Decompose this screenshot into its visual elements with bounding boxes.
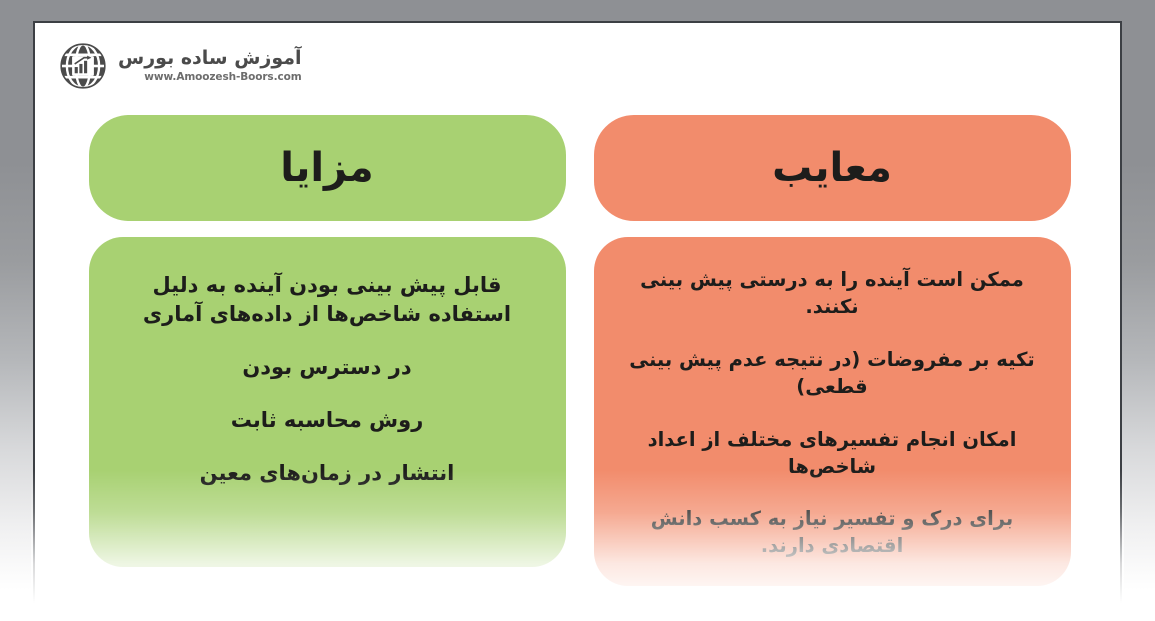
- advantages-body: قابل پیش بینی بودن آینده به دلیل استفاده…: [89, 237, 566, 567]
- list-item: امکان انجام تفسیرهای مختلف از اعداد شاخص…: [620, 427, 1045, 481]
- list-item: تکیه بر مفروضات (در نتیجه عدم پیش بینی ق…: [620, 347, 1045, 401]
- slide-page: آموزش ساده بورس www.Amoozesh-Boors.com م…: [33, 21, 1122, 621]
- advantages-column: مزایا قابل پیش بینی بودن آینده به دلیل ا…: [89, 115, 566, 567]
- disadvantages-header: معایب: [594, 115, 1071, 221]
- brand-text-block: آموزش ساده بورس www.Amoozesh-Boors.com: [118, 49, 302, 83]
- brand-logo: آموزش ساده بورس www.Amoozesh-Boors.com: [57, 40, 302, 92]
- list-item: روش محاسبه ثابت: [115, 406, 540, 435]
- advantages-header: مزایا: [89, 115, 566, 221]
- disadvantages-body: ممکن است آینده را به درستی پیش بینی نکنن…: [594, 237, 1071, 586]
- list-item: ممکن است آینده را به درستی پیش بینی نکنن…: [620, 267, 1045, 321]
- list-item: قابل پیش بینی بودن آینده به دلیل استفاده…: [115, 271, 540, 329]
- brand-url: www.Amoozesh-Boors.com: [144, 72, 301, 83]
- list-item: انتشار در زمان‌های معین: [115, 459, 540, 488]
- comparison-columns: مزایا قابل پیش بینی بودن آینده به دلیل ا…: [35, 115, 1122, 585]
- globe-bar-chart-icon: [57, 40, 109, 92]
- disadvantages-column: معایب ممکن است آینده را به درستی پیش بین…: [594, 115, 1071, 586]
- list-item: برای درک و تفسیر نیاز به کسب دانش اقتصاد…: [620, 506, 1045, 560]
- disadvantages-title: معایب: [772, 148, 892, 188]
- brand-name: آموزش ساده بورس: [118, 49, 302, 68]
- advantages-title: مزایا: [280, 148, 373, 188]
- list-item: در دسترس بودن: [115, 353, 540, 382]
